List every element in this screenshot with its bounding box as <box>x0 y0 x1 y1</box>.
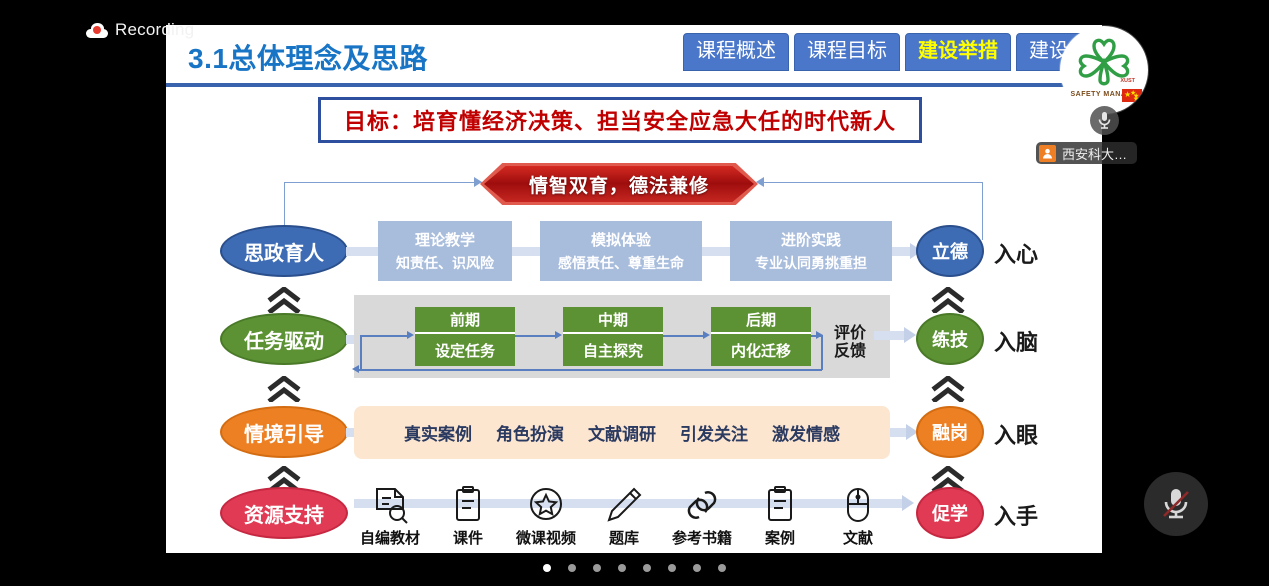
row3-item-5: 激发情感 <box>772 420 840 445</box>
row2-side-label: 入脑 <box>994 325 1038 357</box>
row2-box-3: 后期 内化迁移 <box>711 307 811 366</box>
chevron-up-icon-left-1 <box>267 287 301 313</box>
row2-loop-entry-arrowhead <box>407 331 414 339</box>
clipboard-icon <box>760 485 800 525</box>
row1-box-2: 模拟体验 感悟责任、尊重生命 <box>540 221 702 281</box>
row3-item-1: 真实案例 <box>404 420 472 445</box>
resource-item-4: 题库 <box>588 485 660 548</box>
row2-box-2: 中期 自主探究 <box>563 307 663 366</box>
page-dot-8[interactable] <box>718 564 726 572</box>
mute-button[interactable] <box>1144 472 1208 536</box>
row1-band-left <box>346 247 378 256</box>
row2-arrow-1 <box>515 335 555 337</box>
row4-right-ellipse: 促学 <box>916 487 984 539</box>
row3-right-ellipse: 融岗 <box>916 406 984 458</box>
tab-course-overview[interactable]: 课程概述 <box>683 33 789 71</box>
bracket-right-horizontal <box>758 182 983 183</box>
slide-tabs: 课程概述 课程目标 建设举措 建设成 <box>683 33 1102 71</box>
row1-right-ellipse: 立德 <box>916 225 984 277</box>
row2-loop-arrowhead <box>352 365 359 373</box>
page-dot-6[interactable] <box>668 564 676 572</box>
chevron-up-icon-right-2 <box>931 376 965 402</box>
avatar: XUST SAFETY MANAGE ★ ★ ★ ★ <box>1060 26 1148 114</box>
row2-band-arrowhead <box>904 327 916 343</box>
row2-arrowhead-2 <box>703 331 710 339</box>
page-dot-2[interactable] <box>568 564 576 572</box>
page-dot-4[interactable] <box>618 564 626 572</box>
tab-course-goals[interactable]: 课程目标 <box>794 33 900 71</box>
pencil-icon <box>604 485 644 525</box>
resource-item-3: 微课视频 <box>510 485 582 548</box>
row2-loop-entry <box>360 335 410 337</box>
tab-construction-measures[interactable]: 建设举措 <box>905 33 1011 71</box>
slide-header: 3.1总体理念及思路 课程概述 课程目标 建设举措 建设成 <box>166 25 1102 89</box>
page-dot-1[interactable] <box>543 564 551 572</box>
row1-left-ellipse: 思政育人 <box>220 225 348 277</box>
row3-left-ellipse: 情境引导 <box>220 406 348 458</box>
cloud-record-icon <box>86 23 108 38</box>
bracket-right-vertical <box>982 182 983 240</box>
row2-loop-bottom <box>359 369 822 371</box>
row2-left-ellipse: 任务驱动 <box>220 313 348 365</box>
page-dot-7[interactable] <box>693 564 701 572</box>
chevron-up-icon-left-2 <box>267 376 301 402</box>
star-circle-icon <box>526 485 566 525</box>
user-avatar-icon <box>1039 145 1056 162</box>
row2-feedback-label: 评价 反馈 <box>829 325 871 362</box>
row1-band-4 <box>892 247 910 256</box>
link-chain-icon <box>682 485 722 525</box>
presentation-slide: 3.1总体理念及思路 课程概述 课程目标 建设举措 建设成 目标：培育懂经济决策… <box>166 25 1102 553</box>
row2-arrow-2 <box>663 335 703 337</box>
resource-item-1: 自编教材 <box>354 485 426 548</box>
row2-right-ellipse: 练技 <box>916 313 984 365</box>
row3-side-label: 入眼 <box>994 418 1038 450</box>
page-indicator[interactable] <box>0 564 1269 572</box>
resource-item-5: 参考书籍 <box>666 485 738 548</box>
resource-item-6: 案例 <box>744 485 816 548</box>
row4-band-arrowhead <box>902 495 914 511</box>
row4-side-label: 入手 <box>994 499 1038 531</box>
row3-peach-panel: 真实案例 角色扮演 文献调研 引发关注 激发情感 <box>354 406 890 459</box>
xust-label: XUST <box>1120 78 1135 84</box>
row4-resources: 自编教材 课件 微课视频 <box>354 485 890 553</box>
bracket-left-horizontal <box>284 182 482 183</box>
screen-root: Recording 3.1总体理念及思路 课程概述 课程目标 建设举措 建设成 … <box>0 0 1269 586</box>
resource-item-7: 文献 <box>822 485 894 548</box>
row1-band-3 <box>702 247 730 256</box>
bracket-right-arrowhead <box>756 177 764 187</box>
participant-video-tile[interactable]: XUST SAFETY MANAGE ★ ★ ★ ★ <box>1060 26 1148 114</box>
page-dot-3[interactable] <box>593 564 601 572</box>
page-dot-5[interactable] <box>643 564 651 572</box>
header-divider <box>166 83 1102 87</box>
microphone-muted-icon <box>1160 486 1192 522</box>
recording-label: Recording <box>115 20 194 40</box>
row1-box-3: 进阶实践 专业认同勇挑重担 <box>730 221 892 281</box>
row1-band-2 <box>512 247 540 256</box>
row2-loop-left-vertical <box>360 335 362 370</box>
microphone-icon <box>1090 106 1119 135</box>
row1-side-label: 入心 <box>994 237 1038 269</box>
document-search-icon <box>370 485 410 525</box>
row3-item-2: 角色扮演 <box>496 420 564 445</box>
hex-banner: 情智双育，德法兼修 <box>484 166 754 202</box>
participant-name-pill: 西安科大… <box>1036 142 1137 164</box>
row2-box-1: 前期 设定任务 <box>415 307 515 366</box>
row2-band-right <box>874 331 904 340</box>
goal-banner: 目标：培育懂经济决策、担当安全应急大任的时代新人 <box>318 97 922 143</box>
row3-item-4: 引发关注 <box>680 420 748 445</box>
resource-item-2: 课件 <box>432 485 504 548</box>
row3-band-right <box>890 428 906 437</box>
page-title: 3.1总体理念及思路 <box>188 37 428 77</box>
chevron-up-icon-right-1 <box>931 287 965 313</box>
row1-box-1: 理论教学 知责任、识风险 <box>378 221 512 281</box>
row3-item-3: 文献调研 <box>588 420 656 445</box>
row2-arrowhead-1 <box>555 331 562 339</box>
row4-left-ellipse: 资源支持 <box>220 487 348 539</box>
clipboard-icon <box>448 485 488 525</box>
goal-text: 目标：培育懂经济决策、担当安全应急大任的时代新人 <box>344 104 896 136</box>
china-flag-icon: ★ ★ ★ ★ <box>1122 89 1142 102</box>
recording-indicator: Recording <box>86 20 194 40</box>
mouse-icon <box>838 485 878 525</box>
bracket-left-arrowhead <box>474 177 482 187</box>
row2-loop-right-vertical <box>821 335 823 370</box>
participant-name: 西安科大… <box>1062 144 1127 163</box>
